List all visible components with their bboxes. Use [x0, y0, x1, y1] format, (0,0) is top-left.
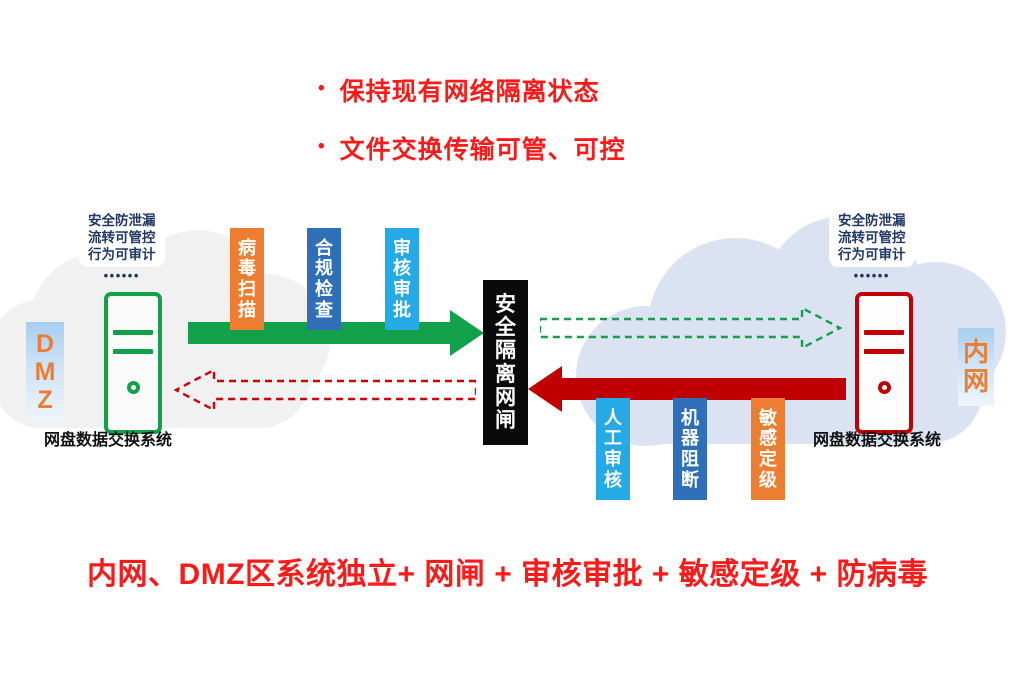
callout-left-tail-dots-icon: ••••••	[79, 269, 165, 282]
gateway-char: 安	[495, 293, 516, 316]
server-bar-top-icon	[864, 330, 903, 335]
callout-left-line-2: 流转可管控	[88, 229, 156, 246]
chip-char: 敏	[759, 408, 777, 429]
chip-char: 扫	[238, 279, 256, 300]
zone-dmz-char-z: Z	[37, 386, 52, 414]
process-chip-sensitivity-grading[interactable]: 敏 感 定 级	[751, 398, 785, 500]
zone-chip-dmz: D M Z	[26, 322, 64, 422]
chip-char: 毒	[238, 258, 256, 279]
chip-char: 工	[604, 428, 622, 449]
chip-char: 器	[681, 428, 699, 449]
chip-char: 描	[238, 300, 256, 321]
summary-line: 内网、DMZ区系统独立+ 网闸 + 审核审批 + 敏感定级 + 防病毒	[0, 549, 1015, 593]
security-gateway-box[interactable]: 安 全 隔 离 网 闸	[483, 280, 528, 445]
chip-char: 阻	[681, 449, 699, 470]
server-body-icon	[855, 292, 913, 434]
server-bar-bottom-icon	[113, 349, 152, 354]
callout-right-tail-dots-icon: ••••••	[829, 269, 915, 282]
server-icon-intranet	[855, 292, 913, 434]
callout-left-line-1: 安全防泄漏	[88, 212, 156, 229]
zone-chip-intranet: 内 网	[958, 328, 994, 406]
chip-char: 核	[604, 470, 622, 491]
callout-right-line-1: 安全防泄漏	[838, 212, 906, 229]
chip-char: 病	[238, 238, 256, 259]
callout-left-bubble: 安全防泄漏 流转可管控 行为可审计	[79, 207, 165, 267]
caption-right-system: 网盘数据交换系统	[813, 426, 941, 450]
chip-char: 规	[315, 258, 333, 279]
server-power-dot-icon	[878, 381, 891, 394]
callout-right: 安全防泄漏 流转可管控 行为可审计 ••••••	[829, 207, 915, 282]
process-chip-machine-block[interactable]: 机 器 阻 断	[673, 398, 707, 500]
chip-char: 审	[604, 449, 622, 470]
chip-char: 级	[759, 470, 777, 491]
zone-dmz-char-d: D	[36, 330, 54, 358]
bullet-dot-icon: •	[318, 79, 326, 98]
callout-right-line-2: 流转可管控	[838, 229, 906, 246]
bullet-item-1: • 保持现有网络隔离状态	[318, 72, 768, 108]
arrow-inbound-dashed-green	[540, 306, 844, 350]
bullet-text-2: 文件交换传输可管、可控	[340, 130, 626, 166]
server-bar-bottom-icon	[864, 349, 903, 354]
chip-char: 核	[393, 258, 411, 279]
server-bar-top-icon	[113, 330, 152, 335]
callout-right-line-3: 行为可审计	[838, 246, 906, 263]
arrow-outbound-dashed-red	[172, 368, 476, 412]
bullet-text-1: 保持现有网络隔离状态	[340, 72, 600, 108]
chip-char: 查	[315, 300, 333, 321]
chip-char: 批	[393, 300, 411, 321]
server-power-dot-icon	[127, 381, 140, 394]
gateway-char: 离	[495, 363, 516, 386]
chip-char: 合	[315, 238, 333, 259]
chip-char: 检	[315, 279, 333, 300]
chip-char: 机	[681, 408, 699, 429]
gateway-char: 闸	[495, 409, 516, 432]
chip-char: 断	[681, 470, 699, 491]
bullet-item-2: • 文件交换传输可管、可控	[318, 130, 768, 166]
server-body-icon	[104, 292, 162, 434]
chip-char: 定	[759, 449, 777, 470]
bullet-list: • 保持现有网络隔离状态 • 文件交换传输可管、可控	[318, 72, 768, 188]
zone-intranet-char-1: 内	[963, 338, 989, 367]
chip-char: 审	[393, 238, 411, 259]
callout-right-bubble: 安全防泄漏 流转可管控 行为可审计	[829, 207, 915, 267]
gateway-char: 隔	[495, 339, 516, 362]
server-icon-dmz	[104, 292, 162, 434]
bullet-dot-icon: •	[318, 137, 326, 156]
zone-dmz-char-m: M	[35, 358, 56, 386]
caption-left-system: 网盘数据交换系统	[44, 426, 172, 450]
zone-intranet-char-2: 网	[963, 367, 989, 396]
callout-left: 安全防泄漏 流转可管控 行为可审计 ••••••	[79, 207, 165, 282]
process-chip-compliance-check[interactable]: 合 规 检 查	[307, 228, 341, 330]
gateway-char: 全	[495, 316, 516, 339]
gateway-char: 网	[495, 386, 516, 409]
process-chip-review-approval[interactable]: 审 核 审 批	[385, 228, 419, 330]
chip-char: 人	[604, 408, 622, 429]
process-chip-virus-scan[interactable]: 病 毒 扫 描	[230, 228, 264, 330]
process-chip-manual-review[interactable]: 人 工 审 核	[596, 398, 630, 500]
chip-char: 审	[393, 279, 411, 300]
callout-left-line-3: 行为可审计	[88, 246, 156, 263]
diagram-canvas: • 保持现有网络隔离状态 • 文件交换传输可管、可控 D M Z 内 网	[0, 0, 1015, 675]
chip-char: 感	[759, 428, 777, 449]
